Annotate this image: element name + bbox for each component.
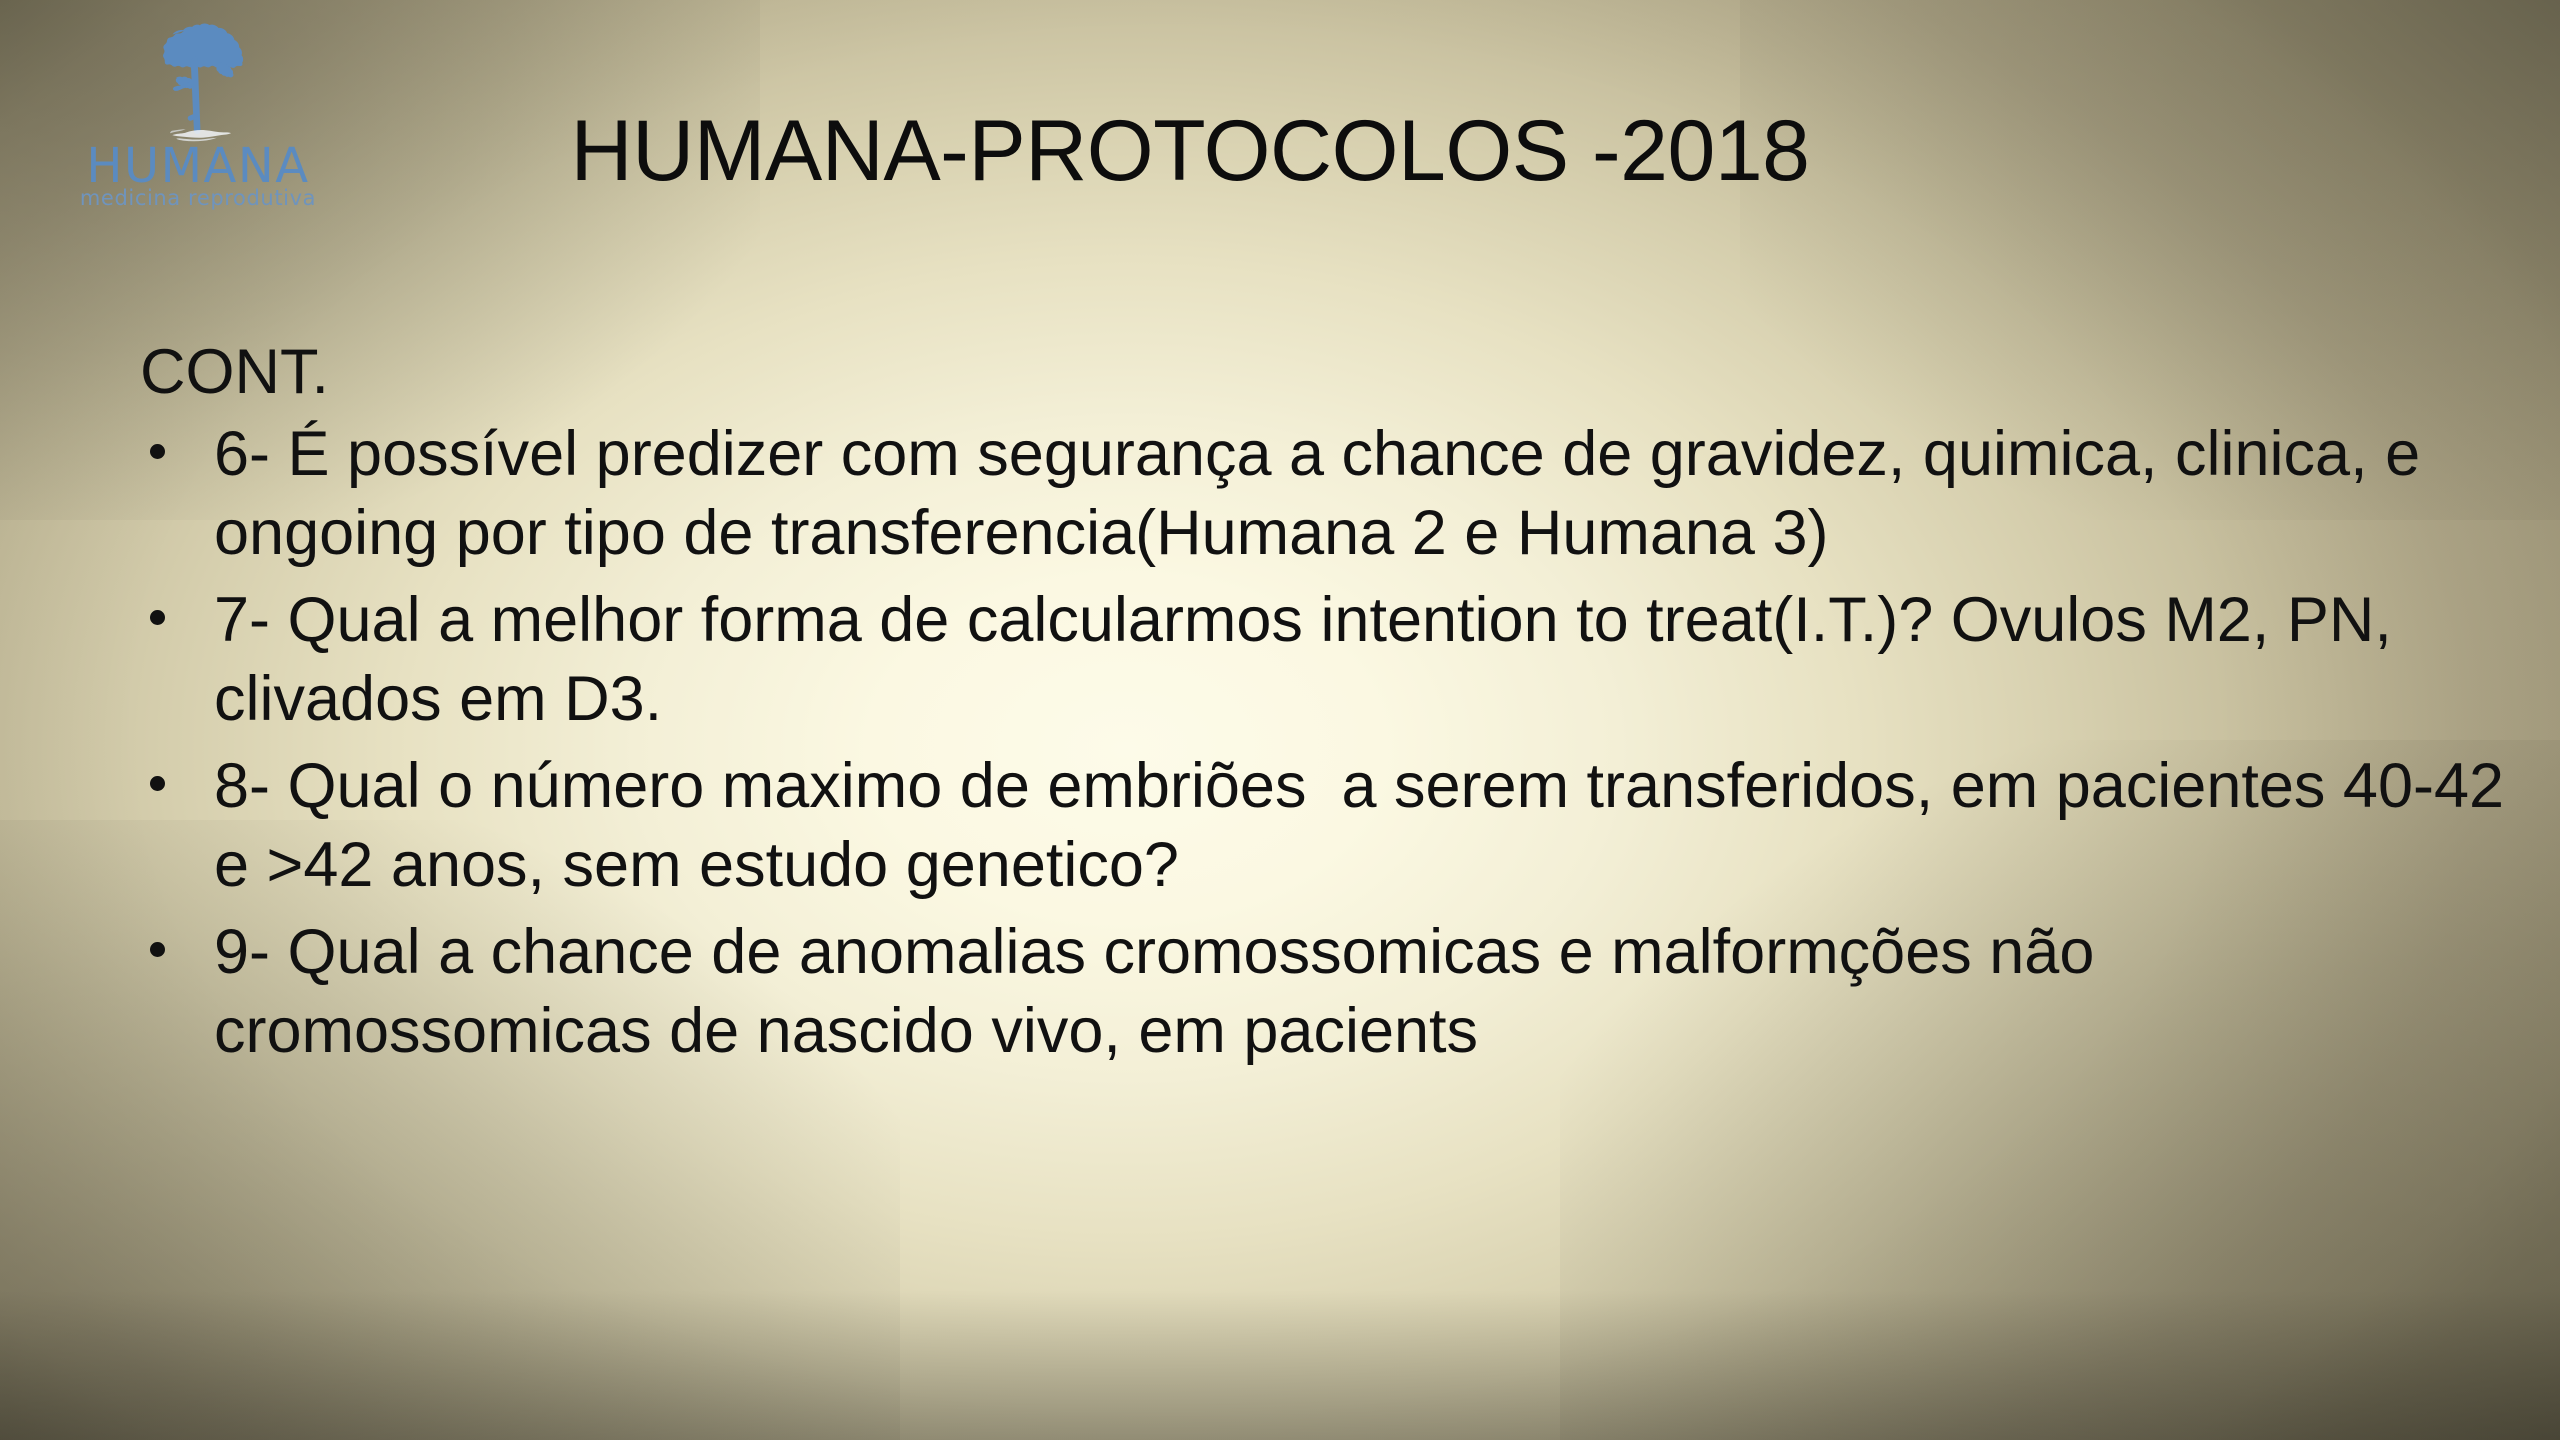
bullet-list: 6- É possível predizer com segurança a c… — [140, 415, 2530, 1072]
slide-body: CONT. 6- É possível predizer com seguran… — [140, 334, 2530, 1071]
list-item-text: 8- Qual o número maximo de embriões a se… — [214, 747, 2530, 905]
bullet-dot-icon — [150, 610, 165, 625]
tree-icon — [132, 18, 262, 146]
bullet-dot-icon — [150, 942, 165, 957]
slide-canvas: HUMANA medicina reprodutiva HUMANA-PROTO… — [0, 0, 2560, 1440]
list-item-text: 9- Qual a chance de anomalias cromossomi… — [214, 913, 2530, 1071]
list-item: 8- Qual o número maximo de embriões a se… — [140, 747, 2530, 905]
bullet-dot-icon — [150, 776, 165, 791]
logo-tagline: medicina reprodutiva — [48, 188, 348, 209]
humana-logo: HUMANA medicina reprodutiva — [48, 18, 348, 208]
list-item: 9- Qual a chance de anomalias cromossomi… — [140, 913, 2530, 1071]
bullet-dot-icon — [150, 444, 165, 459]
list-item-text: 7- Qual a melhor forma de calcularmos in… — [214, 581, 2530, 739]
list-item-text: 6- É possível predizer com segurança a c… — [214, 415, 2530, 573]
list-item: 7- Qual a melhor forma de calcularmos in… — [140, 581, 2530, 739]
logo-wordmark: HUMANA — [48, 142, 348, 190]
list-item: 6- É possível predizer com segurança a c… — [140, 415, 2530, 573]
slide-title: HUMANA-PROTOCOLOS -2018 — [330, 108, 2050, 196]
continuation-heading: CONT. — [140, 334, 2530, 411]
background-edge-bottom — [0, 1290, 2560, 1440]
